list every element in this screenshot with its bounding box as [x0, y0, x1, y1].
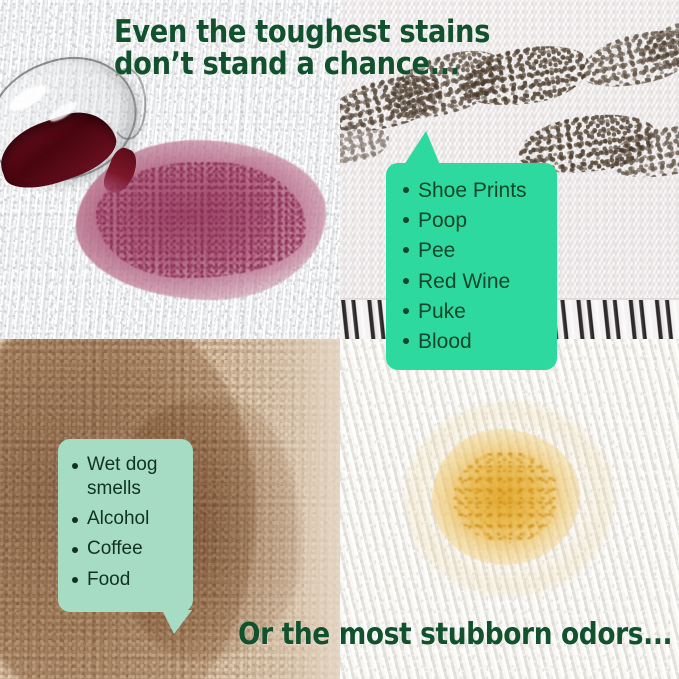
- promo-canvas: Even the toughest stains don’t stand a c…: [0, 0, 679, 679]
- list-item: Food: [70, 568, 185, 592]
- list-item: Coffee: [70, 537, 185, 561]
- list-item: Pee: [401, 236, 547, 266]
- list-item: Wet dog smells: [70, 453, 185, 501]
- list-item: Shoe Prints: [401, 176, 547, 206]
- list-item: Poop: [401, 206, 547, 236]
- yellow-stain: [432, 429, 580, 565]
- odors-list: Wet dog smellsAlcoholCoffeeFood: [58, 439, 193, 592]
- bubble-tail-icon: [162, 610, 192, 634]
- stains-list: Shoe PrintsPoopPeeRed WinePukeBlood: [386, 163, 557, 357]
- bubble-tail-icon: [404, 131, 440, 165]
- list-item: Red Wine: [401, 267, 547, 297]
- headline-top: Even the toughest stains don’t stand a c…: [114, 17, 490, 81]
- odors-bubble: Wet dog smellsAlcoholCoffeeFood: [58, 439, 193, 612]
- headline-bottom: Or the most stubborn odors...: [238, 620, 672, 651]
- list-item: Blood: [401, 327, 547, 357]
- list-item: Alcohol: [70, 507, 185, 531]
- list-item: Puke: [401, 297, 547, 327]
- stains-bubble: Shoe PrintsPoopPeeRed WinePukeBlood: [386, 163, 557, 370]
